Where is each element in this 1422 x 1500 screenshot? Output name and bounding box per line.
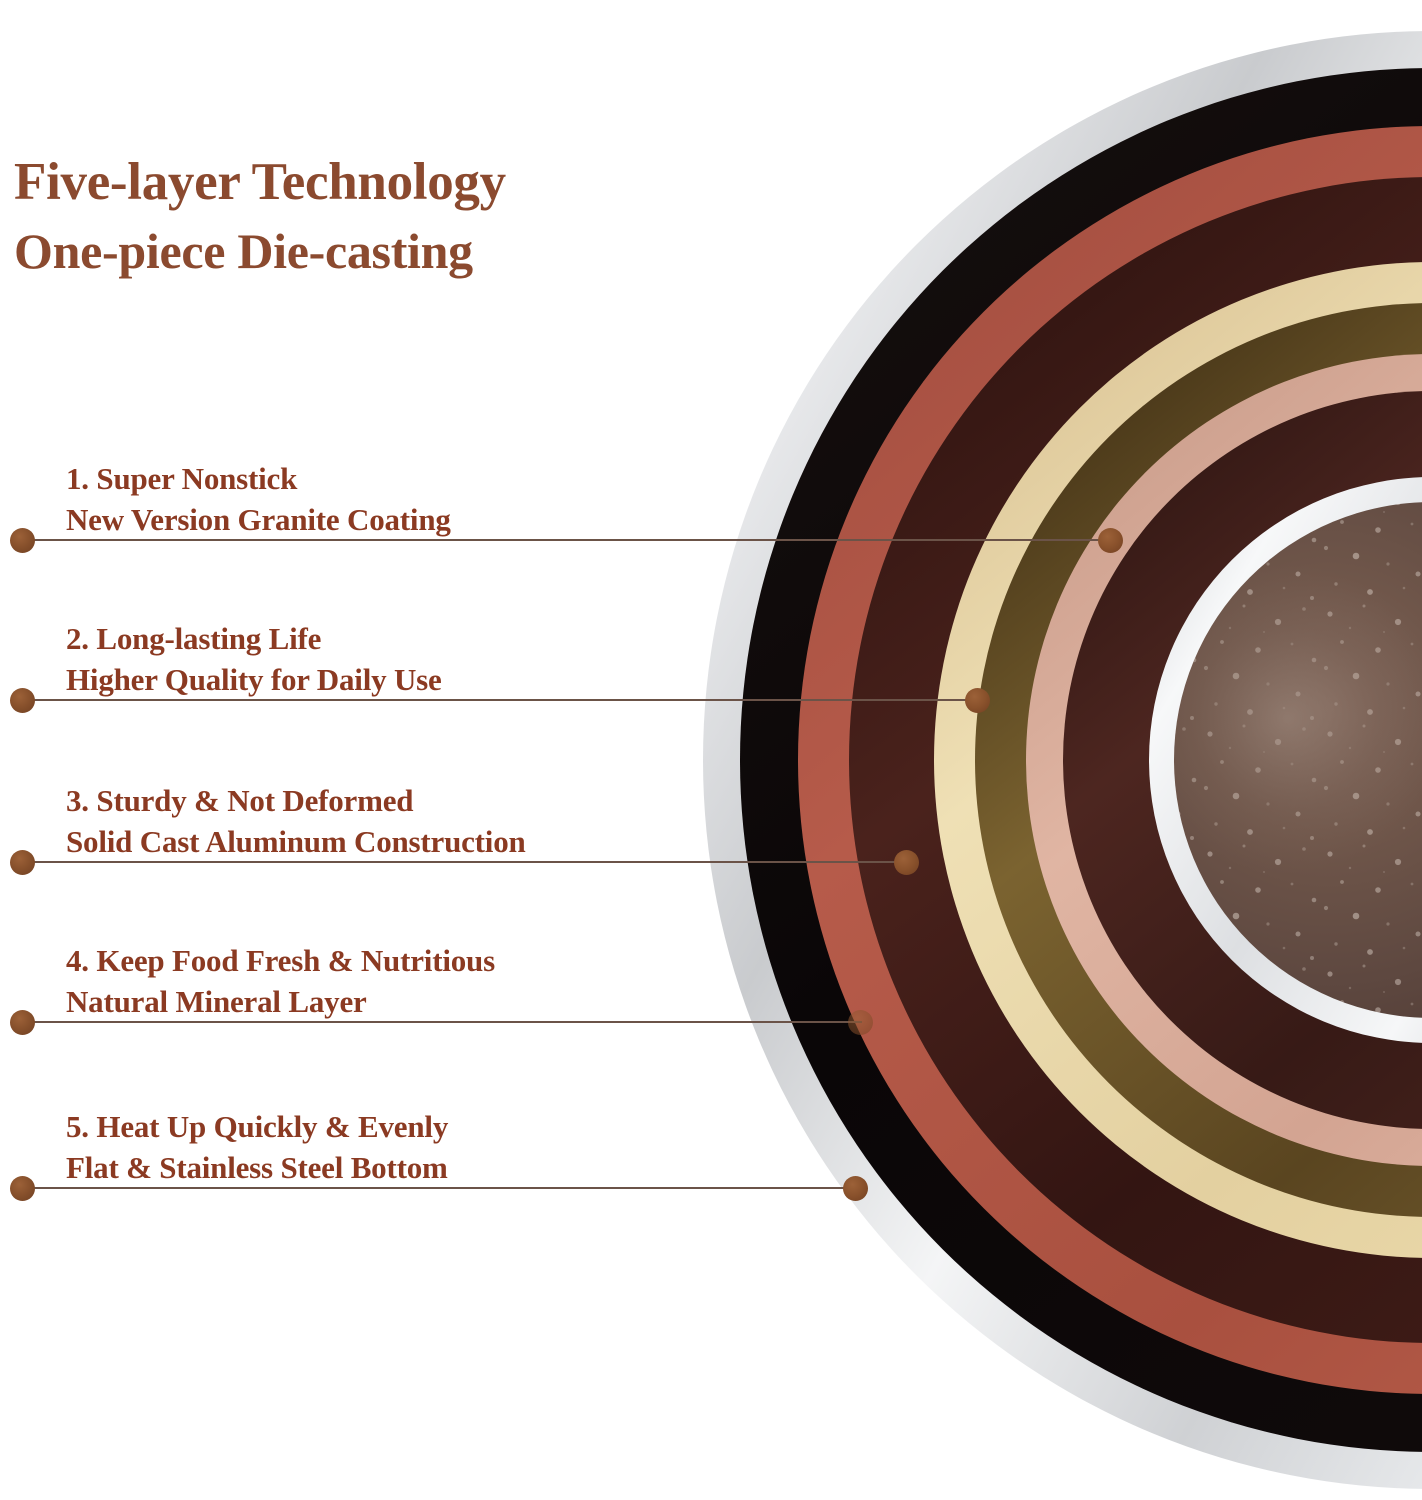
- layer-cream-aluminum: [934, 262, 1422, 1258]
- feature-1-leader-line: [22, 539, 1112, 541]
- headline-line-2: One-piece Die-casting: [14, 218, 714, 284]
- feature-3-title: 3. Sturdy & Not Deformed: [66, 781, 526, 821]
- feature-3-subtitle: Solid Cast Aluminum Construction: [66, 822, 526, 862]
- layer-outer-stainless-steel: [703, 31, 1422, 1489]
- layer-inner-maroon: [1063, 391, 1422, 1129]
- feature-5-title: 5. Heat Up Quickly & Evenly: [66, 1107, 448, 1147]
- headline-line-1: Five-layer Technology: [14, 148, 714, 218]
- layer-brick-red-enamel: [798, 126, 1422, 1394]
- feature-4-leader-line: [22, 1021, 862, 1023]
- layer-olive-shadow: [975, 303, 1422, 1217]
- feature-1-layer-marker-icon: [1098, 528, 1123, 553]
- feature-callout-4: 4. Keep Food Fresh & Nutritious Natural …: [0, 1010, 890, 1036]
- granite-highlight: [1174, 502, 1422, 1018]
- feature-4-title: 4. Keep Food Fresh & Nutritious: [66, 941, 495, 981]
- feature-4-layer-marker-icon: [848, 1010, 873, 1035]
- feature-4-left-dot: [10, 1010, 35, 1035]
- infographic-page: Five-layer Technology One-piece Die-cast…: [0, 0, 1422, 1500]
- feature-1-left-dot: [10, 528, 35, 553]
- feature-1-subtitle: New Version Granite Coating: [66, 500, 451, 540]
- page-title: Five-layer Technology One-piece Die-cast…: [14, 148, 714, 284]
- layer-black-induction-base: [740, 68, 1422, 1452]
- feature-2-subtitle: Higher Quality for Daily Use: [66, 660, 442, 700]
- feature-callout-5: 5. Heat Up Quickly & Evenly Flat & Stain…: [0, 1176, 890, 1202]
- feature-2-layer-marker-icon: [965, 688, 990, 713]
- feature-1-title: 1. Super Nonstick: [66, 459, 451, 499]
- feature-3-left-dot: [10, 850, 35, 875]
- feature-2-text: 2. Long-lasting Life Higher Quality for …: [66, 619, 442, 700]
- layer-peach-mineral: [1026, 354, 1422, 1166]
- feature-2-leader-line: [22, 699, 979, 701]
- feature-5-leader-line: [22, 1187, 857, 1189]
- feature-5-layer-marker-icon: [843, 1176, 868, 1201]
- feature-5-left-dot: [10, 1176, 35, 1201]
- feature-3-leader-line: [22, 861, 908, 863]
- feature-4-subtitle: Natural Mineral Layer: [66, 982, 495, 1022]
- feature-callout-1: 1. Super Nonstick New Version Granite Co…: [0, 528, 1135, 554]
- feature-callout-3: 3. Sturdy & Not Deformed Solid Cast Alum…: [0, 850, 935, 876]
- feature-5-text: 5. Heat Up Quickly & Evenly Flat & Stain…: [66, 1107, 448, 1188]
- feature-1-text: 1. Super Nonstick New Version Granite Co…: [66, 459, 451, 540]
- feature-callout-2: 2. Long-lasting Life Higher Quality for …: [0, 688, 1005, 714]
- feature-3-layer-marker-icon: [894, 850, 919, 875]
- feature-2-left-dot: [10, 688, 35, 713]
- feature-4-text: 4. Keep Food Fresh & Nutritious Natural …: [66, 941, 495, 1022]
- feature-2-title: 2. Long-lasting Life: [66, 619, 442, 659]
- granite-speckle-texture: [1174, 502, 1422, 1018]
- feature-5-subtitle: Flat & Stainless Steel Bottom: [66, 1148, 448, 1188]
- pan-layer-rings: [703, 31, 1422, 1489]
- layer-dark-maroon-body: [849, 177, 1422, 1343]
- feature-3-text: 3. Sturdy & Not Deformed Solid Cast Alum…: [66, 781, 526, 862]
- layer-inner-stainless-white: [1149, 477, 1422, 1043]
- layer-granite-cooking-surface: [1174, 502, 1422, 1018]
